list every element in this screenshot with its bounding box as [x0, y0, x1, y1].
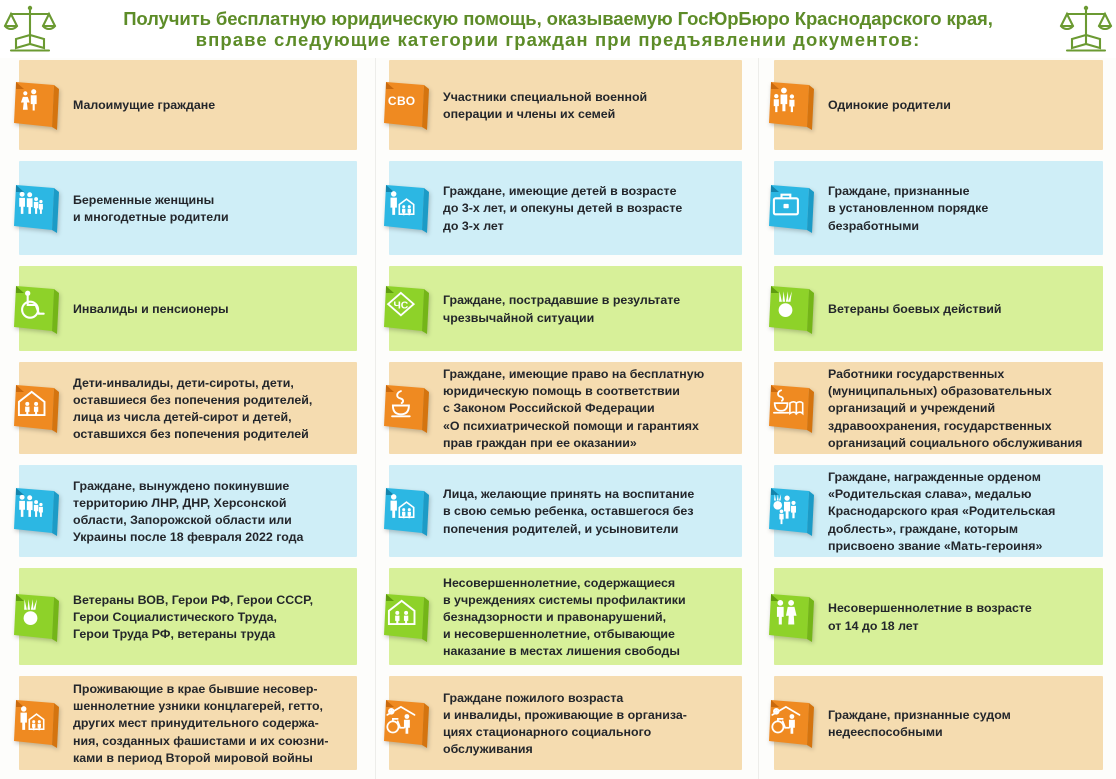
list-item[interactable]: Граждане, имеющие право на бесплатную юр… [370, 360, 755, 463]
category-card: СВО Участники специальной военной операц… [381, 58, 744, 154]
poor-citizens-icon [9, 78, 65, 134]
category-label: Дети-инвалиды, дети-сироты, дети, оставш… [73, 375, 316, 443]
list-item[interactable]: Ветераны ВОВ, Герои РФ, Герои СССР, Геро… [0, 566, 370, 674]
category-card: Лица, желающие принять на воспитание в с… [381, 463, 744, 561]
list-item[interactable]: Граждане, признанные в установленном пор… [755, 159, 1116, 264]
family-group-icon [9, 484, 65, 540]
category-card: Граждане пожилого возраста и инвалиды, п… [381, 674, 744, 774]
list-item[interactable]: Работники государственных (муниципальных… [755, 360, 1116, 463]
category-card: Дети-инвалиды, дети-сироты, дети, оставш… [11, 360, 359, 458]
list-item[interactable]: Беременные женщины и многодетные родител… [0, 159, 370, 264]
adult-children-icon [9, 696, 65, 752]
category-card: Проживающие в крае бывшие несовер- шенно… [11, 674, 359, 774]
list-item[interactable]: Одинокие родители [755, 58, 1116, 159]
category-label: Граждане, имеющие право на бесплатную юр… [443, 366, 708, 452]
category-card: Малоимущие граждане [11, 58, 359, 154]
scales-of-justice-icon-right [1056, 3, 1116, 55]
infographic-page: Получить бесплатную юридическую помощь, … [0, 0, 1116, 779]
category-card: Несовершеннолетние в возрасте от 14 до 1… [766, 566, 1105, 669]
wheelchair-icon [9, 282, 65, 338]
category-label: Граждане, пострадавшие в результате чрез… [443, 292, 684, 326]
house-children-icon [9, 381, 65, 437]
adult-children-icon [379, 181, 435, 237]
page-title-line-1: Получить бесплатную юридическую помощь, … [66, 8, 1050, 29]
category-label: Одинокие родители [828, 97, 955, 114]
category-label: Граждане, признанные судом недееспособны… [828, 707, 1015, 741]
category-card: Ветераны боевых действий [766, 264, 1105, 355]
category-card: Ветераны ВОВ, Герои РФ, Герои СССР, Геро… [11, 566, 359, 669]
page-header: Получить бесплатную юридическую помощь, … [0, 0, 1116, 58]
category-card: Граждане, вынуждено покинувшие территори… [11, 463, 359, 561]
list-item[interactable]: Граждане, признанные судом недееспособны… [755, 674, 1116, 779]
svo-text-icon: СВО [379, 78, 435, 134]
award-family-icon [764, 484, 820, 540]
single-parent-icon [764, 78, 820, 134]
category-label: Граждане, имеющие детей в возрасте до 3-… [443, 183, 686, 234]
category-label: Беременные женщины и многодетные родител… [73, 192, 233, 226]
column-separator-2 [758, 58, 759, 779]
category-card: Граждане, имеющие право на бесплатную юр… [381, 360, 744, 458]
category-label: Инвалиды и пенсионеры [73, 301, 233, 318]
category-label: Работники государственных (муниципальных… [828, 366, 1086, 452]
category-label: Граждане, награжденные орденом «Родитель… [828, 469, 1059, 555]
category-label: Ветераны боевых действий [828, 301, 1005, 318]
elderly-care-icon [379, 696, 435, 752]
scales-of-justice-icon-left [0, 3, 60, 55]
adult-children-icon [379, 484, 435, 540]
category-label: Несовершеннолетние, содержащиеся в учреж… [443, 575, 690, 661]
medal-icon [9, 590, 65, 646]
page-title-line-2: вправе следующие категории граждан при п… [66, 29, 1050, 50]
category-card: Одинокие родители [766, 58, 1105, 154]
category-label: Граждане, вынуждено покинувшие территори… [73, 478, 307, 546]
emergency-chs-icon: ЧС [379, 282, 435, 338]
elderly-care-icon [764, 696, 820, 752]
list-item[interactable]: Граждане, награжденные орденом «Родитель… [755, 463, 1116, 566]
category-label: Проживающие в крае бывшие несовер- шенно… [73, 681, 333, 767]
category-card: Несовершеннолетние, содержащиеся в учреж… [381, 566, 744, 669]
svg-text:ЧС: ЧС [393, 300, 408, 311]
category-card: Граждане, награжденные орденом «Родитель… [766, 463, 1105, 561]
list-item[interactable]: ЧС Граждане, пострадавшие в результате ч… [370, 264, 755, 360]
category-column-2: СВО Участники специальной военной операц… [370, 58, 755, 779]
category-label: Лица, желающие принять на воспитание в с… [443, 486, 698, 537]
medal-icon [764, 282, 820, 338]
house-children-icon [379, 590, 435, 646]
list-item[interactable]: Несовершеннолетние, содержащиеся в учреж… [370, 566, 755, 674]
list-item[interactable]: Граждане пожилого возраста и инвалиды, п… [370, 674, 755, 779]
family-group-icon [9, 181, 65, 237]
category-label: Малоимущие граждане [73, 97, 219, 114]
category-label: Граждане пожилого возраста и инвалиды, п… [443, 690, 691, 758]
category-card: Граждане, признанные в установленном пор… [766, 159, 1105, 259]
list-item[interactable]: Лица, желающие принять на воспитание в с… [370, 463, 755, 566]
medical-book-icon [764, 381, 820, 437]
category-card: Работники государственных (муниципальных… [766, 360, 1105, 458]
list-item[interactable]: Несовершеннолетние в возрасте от 14 до 1… [755, 566, 1116, 674]
list-item[interactable]: Инвалиды и пенсионеры [0, 264, 370, 360]
list-item[interactable]: Дети-инвалиды, дети-сироты, дети, оставш… [0, 360, 370, 463]
list-item[interactable]: Ветераны боевых действий [755, 264, 1116, 360]
categories-grid: Малоимущие граждане Беременные женщины и… [0, 58, 1116, 779]
category-column-1: Малоимущие граждане Беременные женщины и… [0, 58, 370, 779]
medical-bowl-icon [379, 381, 435, 437]
list-item[interactable]: Малоимущие граждане [0, 58, 370, 159]
list-item[interactable]: Проживающие в крае бывшие несовер- шенно… [0, 674, 370, 779]
category-label: Несовершеннолетние в возрасте от 14 до 1… [828, 600, 1036, 634]
two-teens-icon [764, 590, 820, 646]
category-card: Граждане, признанные судом недееспособны… [766, 674, 1105, 774]
category-label: Ветераны ВОВ, Герои РФ, Герои СССР, Геро… [73, 592, 317, 643]
category-card: ЧС Граждане, пострадавшие в результате ч… [381, 264, 744, 355]
briefcase-icon [764, 181, 820, 237]
page-title: Получить бесплатную юридическую помощь, … [60, 8, 1056, 51]
svg-text:СВО: СВО [388, 94, 416, 108]
list-item[interactable]: Граждане, вынуждено покинувшие территори… [0, 463, 370, 566]
list-item[interactable]: Граждане, имеющие детей в возрасте до 3-… [370, 159, 755, 264]
list-item[interactable]: СВО Участники специальной военной операц… [370, 58, 755, 159]
category-card: Беременные женщины и многодетные родител… [11, 159, 359, 259]
column-separator-1 [375, 58, 376, 779]
category-column-3: Одинокие родители Граждане, признанные в… [755, 58, 1116, 779]
category-label: Участники специальной военной операции и… [443, 89, 651, 123]
category-label: Граждане, признанные в установленном пор… [828, 183, 992, 234]
category-card: Инвалиды и пенсионеры [11, 264, 359, 355]
category-card: Граждане, имеющие детей в возрасте до 3-… [381, 159, 744, 259]
